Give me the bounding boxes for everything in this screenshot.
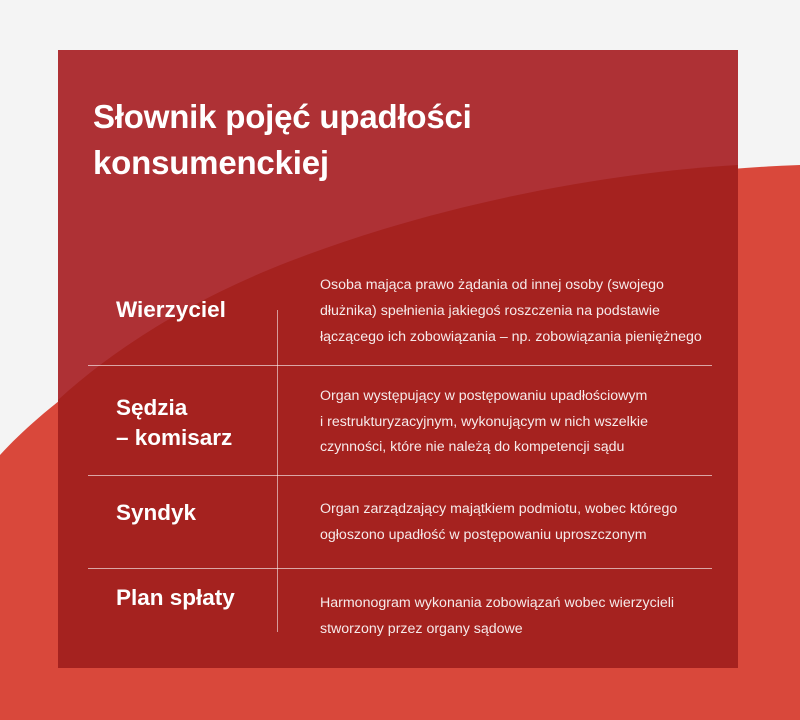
page-title-line-2: konsumenckiej [93, 144, 329, 181]
table-row: Plan spłaty Harmonogram wykonania zobowi… [88, 568, 712, 658]
definition-line: i restrukturyzacyjnym, wykonującym w nic… [320, 410, 648, 436]
definition-line: stworzony przez organy sądowe [320, 617, 674, 643]
definition-line: Organ zarządzający majątkiem podmiotu, w… [320, 497, 677, 523]
glossary-table: Wierzyciel Osoba mająca prawo żądania od… [88, 255, 712, 658]
definition-line: czynności, które nie należą do kompetenc… [320, 435, 648, 461]
page-title-line-1: Słownik pojęć upadłości [93, 98, 472, 135]
table-row: Sędzia – komisarz Organ występujący w po… [88, 365, 712, 475]
glossary-definition: Organ zarządzający majątkiem podmiotu, w… [277, 476, 712, 568]
definition-line: dłużnika) spełnienia jakiegoś roszczenia… [320, 299, 702, 325]
glossary-term: Plan spłaty [88, 569, 277, 658]
glossary-definition: Harmonogram wykonania zobowiązań wobec w… [277, 569, 712, 658]
glossary-term-line: Sędzia [116, 393, 232, 423]
glossary-card: Słownik pojęć upadłości konsumenckiej Wi… [58, 50, 738, 668]
definition-line: ogłoszono upadłość w postępowaniu uprosz… [320, 523, 677, 549]
table-row: Syndyk Organ zarządzający majątkiem podm… [88, 475, 712, 568]
glossary-term: Sędzia – komisarz [88, 366, 277, 475]
table-row: Wierzyciel Osoba mająca prawo żądania od… [88, 255, 712, 365]
definition-line: Osoba mająca prawo żądania od innej osob… [320, 273, 702, 299]
definition-line: Harmonogram wykonania zobowiązań wobec w… [320, 591, 674, 617]
glossary-definition: Organ występujący w postępowaniu upadłoś… [277, 366, 712, 475]
definition-line: Organ występujący w postępowaniu upadłoś… [320, 384, 648, 410]
glossary-definition: Osoba mająca prawo żądania od innej osob… [277, 255, 712, 365]
definition-line: łączącego ich zobowiązania – np. zobowią… [320, 325, 702, 351]
glossary-term: Wierzyciel [88, 255, 277, 365]
glossary-term: Syndyk [88, 476, 277, 568]
glossary-term-line: – komisarz [116, 423, 232, 453]
infographic-stage: Słownik pojęć upadłości konsumenckiej Wi… [0, 0, 800, 720]
page-title: Słownik pojęć upadłości konsumenckiej [93, 94, 593, 185]
